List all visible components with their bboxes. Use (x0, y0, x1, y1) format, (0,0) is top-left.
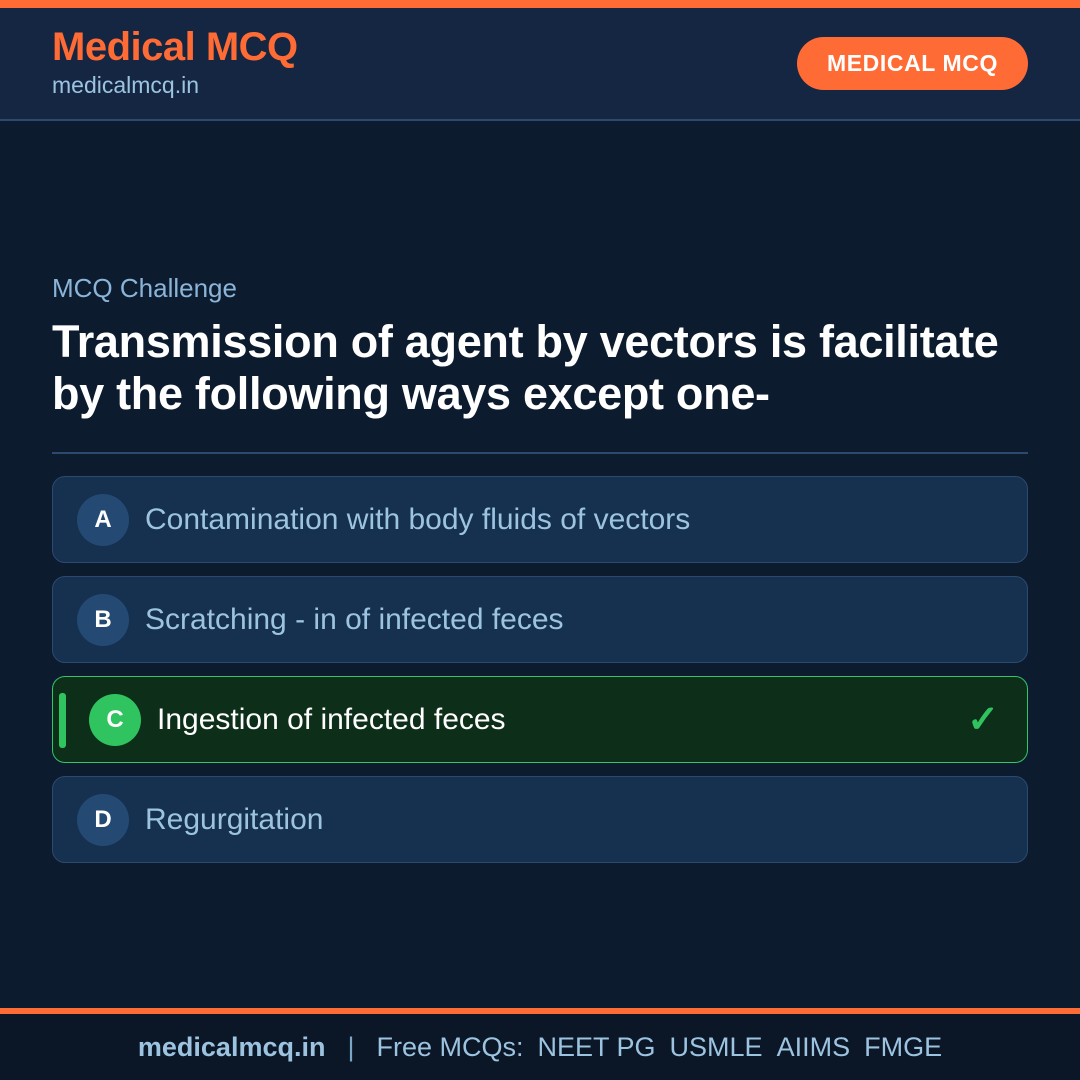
brand-badge: MEDICAL MCQ (797, 37, 1028, 90)
brand-title: Medical MCQ (52, 26, 298, 68)
check-icon: ✓ (967, 701, 999, 739)
option-letter-badge: D (77, 794, 129, 846)
option-label: Ingestion of infected feces (157, 702, 951, 738)
divider (52, 452, 1028, 454)
footer-exam-fmge: FMGE (864, 1032, 942, 1063)
footer-site[interactable]: medicalmcq.in (138, 1032, 326, 1063)
main-content: MCQ Challenge Transmission of agent by v… (0, 121, 1080, 1008)
option-b[interactable]: B Scratching - in of infected feces ✓ (52, 576, 1028, 663)
footer-exam-usmle: USMLE (670, 1032, 763, 1063)
brand: Medical MCQ medicalmcq.in (52, 26, 298, 101)
footer: medicalmcq.in | Free MCQs: NEET PG USMLE… (0, 1014, 1080, 1080)
option-letter-badge: B (77, 594, 129, 646)
footer-exam-neet-pg: NEET PG (538, 1032, 656, 1063)
option-c[interactable]: C Ingestion of infected feces ✓ (52, 676, 1028, 763)
header: Medical MCQ medicalmcq.in MEDICAL MCQ (0, 8, 1080, 121)
eyebrow-label: MCQ Challenge (52, 273, 1028, 304)
question-text: Transmission of agent by vectors is faci… (52, 316, 1028, 420)
option-d[interactable]: D Regurgitation ✓ (52, 776, 1028, 863)
option-letter-badge: C (89, 694, 141, 746)
mcq-card: Medical MCQ medicalmcq.in MEDICAL MCQ MC… (0, 0, 1080, 1080)
option-label: Contamination with body fluids of vector… (145, 502, 999, 538)
footer-label: Free MCQs: (376, 1032, 523, 1063)
brand-subtitle: medicalmcq.in (52, 71, 298, 101)
footer-separator: | (347, 1032, 354, 1063)
options-list: A Contamination with body fluids of vect… (52, 476, 1028, 863)
correct-accent-bar (59, 693, 66, 748)
footer-exam-aiims: AIIMS (777, 1032, 851, 1063)
option-label: Scratching - in of infected feces (145, 602, 999, 638)
option-a[interactable]: A Contamination with body fluids of vect… (52, 476, 1028, 563)
top-accent-bar (0, 0, 1080, 8)
option-letter-badge: A (77, 494, 129, 546)
option-label: Regurgitation (145, 802, 999, 838)
